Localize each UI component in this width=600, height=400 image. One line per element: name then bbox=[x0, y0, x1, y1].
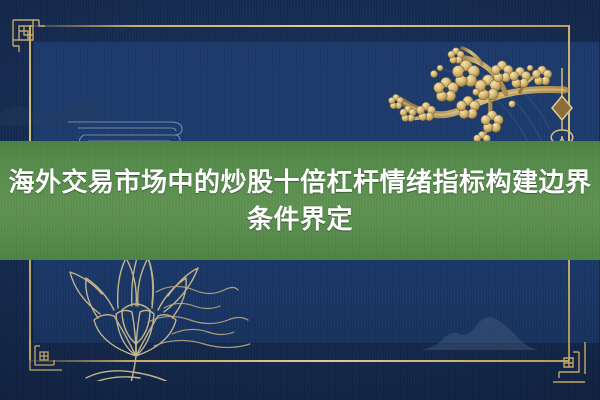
meander-corner-icon bbox=[543, 340, 589, 386]
page-title: 海外交易市场中的炒股十倍杠杆情绪指标构建边界 条件界定 bbox=[0, 141, 600, 260]
meander-corner-icon bbox=[26, 338, 66, 374]
frame-line-top bbox=[28, 25, 568, 27]
poster-canvas: 海外交易市场中的炒股十倍杠杆情绪指标构建边界 条件界定 bbox=[0, 0, 600, 400]
frame-line-bottom bbox=[29, 360, 569, 362]
title-line-2: 条件界定 bbox=[247, 203, 353, 236]
meander-corner-icon bbox=[9, 16, 55, 62]
title-line-1: 海外交易市场中的炒股十倍杠杆情绪指标构建边界 bbox=[8, 166, 591, 199]
